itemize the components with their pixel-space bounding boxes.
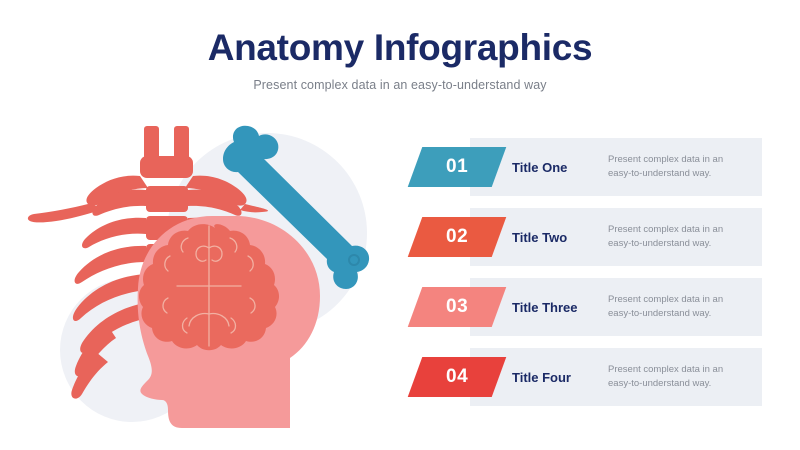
- list-item[interactable]: 04 Title Four Present complex data in an…: [412, 348, 772, 406]
- list-item[interactable]: 01 Title One Present complex data in an …: [412, 138, 772, 196]
- row-description: Present complex data in an easy-to-under…: [608, 348, 748, 406]
- row-number-badge[interactable]: 04: [408, 357, 507, 397]
- row-description: Present complex data in an easy-to-under…: [608, 278, 748, 336]
- row-number-badge[interactable]: 02: [408, 217, 507, 257]
- row-number-label: 01: [446, 156, 468, 178]
- page-title: Anatomy Infographics: [0, 28, 800, 69]
- row-number-label: 02: [446, 226, 468, 248]
- header: Anatomy Infographics Present complex dat…: [0, 28, 800, 92]
- row-title: Title Four: [512, 348, 604, 406]
- slide-canvas: Anatomy Infographics Present complex dat…: [0, 0, 800, 450]
- row-description: Present complex data in an easy-to-under…: [608, 138, 748, 196]
- infographic-list: 01 Title One Present complex data in an …: [412, 138, 772, 418]
- row-number-label: 03: [446, 296, 468, 318]
- row-number-label: 04: [446, 366, 468, 388]
- page-subtitle: Present complex data in an easy-to-under…: [0, 78, 800, 92]
- row-number-badge[interactable]: 01: [408, 147, 507, 187]
- anatomy-illustration: [22, 118, 392, 428]
- list-item[interactable]: 03 Title Three Present complex data in a…: [412, 278, 772, 336]
- list-item[interactable]: 02 Title Two Present complex data in an …: [412, 208, 772, 266]
- row-title: Title Two: [512, 208, 604, 266]
- row-title: Title Three: [512, 278, 604, 336]
- row-description: Present complex data in an easy-to-under…: [608, 208, 748, 266]
- row-number-badge[interactable]: 03: [408, 287, 507, 327]
- row-title: Title One: [512, 138, 604, 196]
